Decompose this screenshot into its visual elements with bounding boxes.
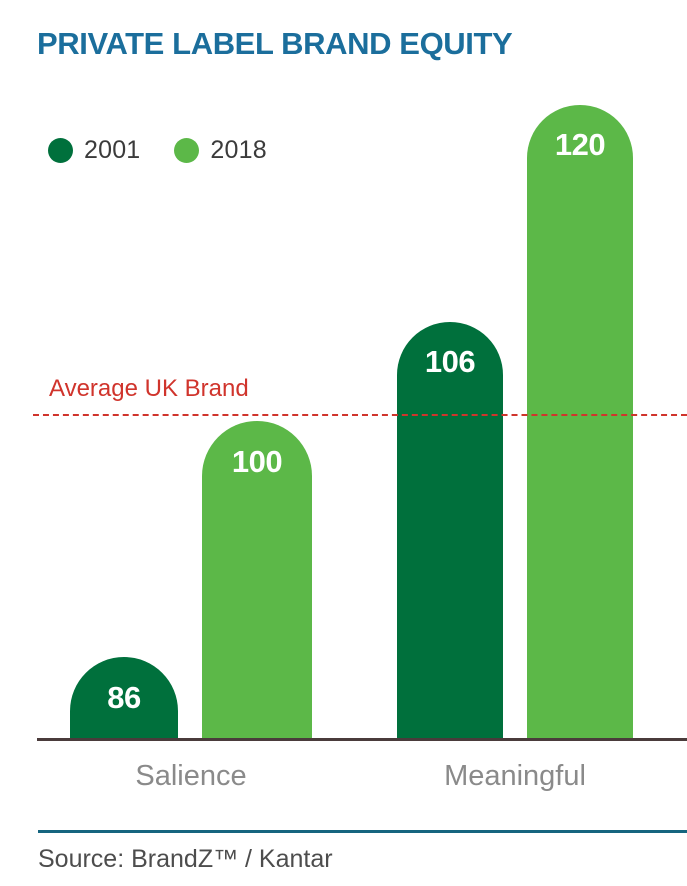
average-uk-brand-line — [33, 414, 687, 416]
source-caption: Source: BrandZ™ / Kantar — [38, 845, 333, 874]
bar-value-label: 120 — [527, 127, 633, 163]
bar-salience-2001[interactable]: 86 — [70, 657, 178, 738]
bar-value-label: 100 — [202, 444, 312, 480]
footer-divider — [38, 830, 687, 833]
average-line-label: Average UK Brand — [49, 375, 249, 403]
bar-value-label: 106 — [397, 344, 503, 380]
bar-value-label: 86 — [70, 680, 178, 716]
category-label-meaningful: Meaningful — [397, 760, 633, 793]
chart-page: PRIVATE LABEL BRAND EQUITY 2001 2018 86 … — [0, 0, 687, 886]
bar-salience-2018[interactable]: 100 — [202, 421, 312, 738]
bar-meaningful-2001[interactable]: 106 — [397, 322, 503, 738]
plot-area: 86 100 106 120 Average UK Brand Salience… — [0, 0, 687, 886]
x-axis-line — [37, 738, 687, 741]
category-label-salience: Salience — [70, 760, 312, 793]
bar-meaningful-2018[interactable]: 120 — [527, 105, 633, 738]
